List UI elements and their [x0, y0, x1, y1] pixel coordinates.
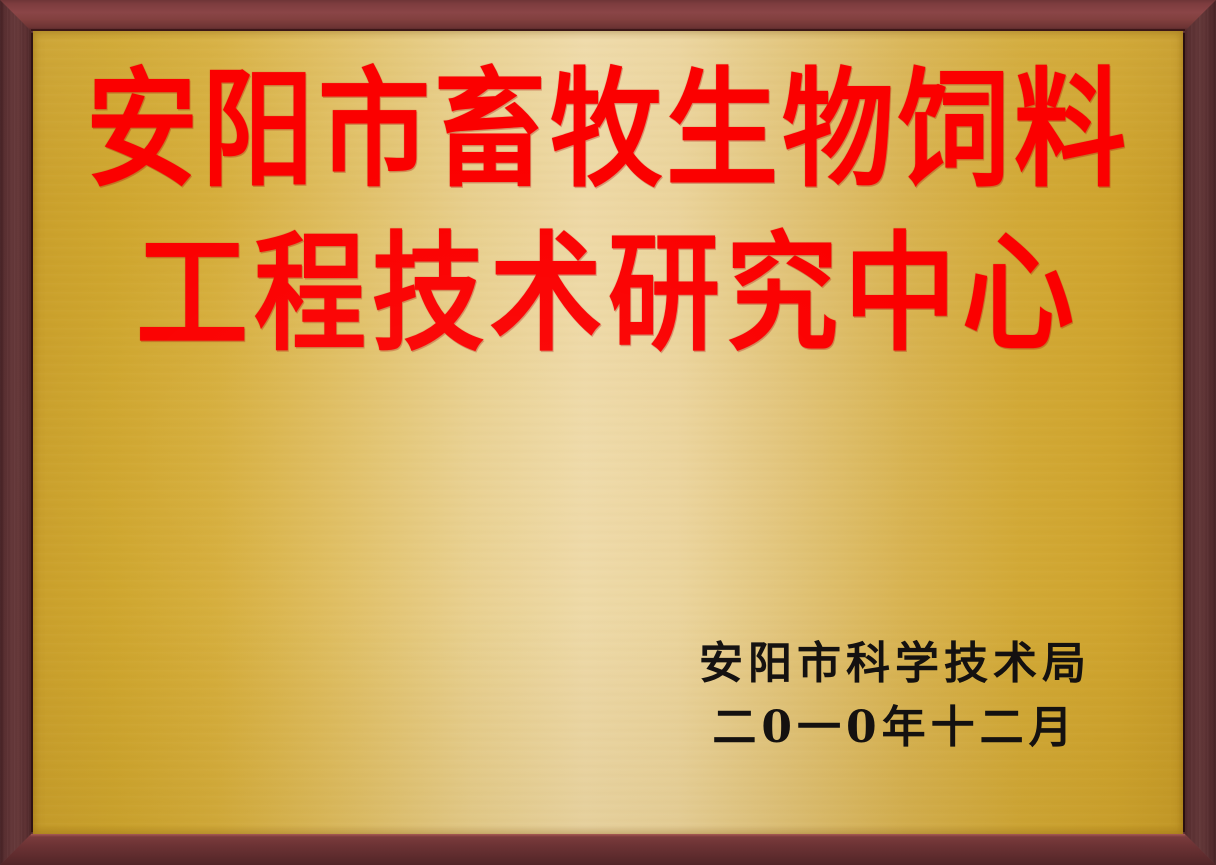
award-plaque: 安阳市畜牧生物饲料 工程技术研究中心 安阳市科学技术局 二0一0年十二月: [0, 0, 1216, 865]
plaque-signature: 安阳市科学技术局 二0一0年十二月: [699, 632, 1091, 760]
plaque-title: 安阳市畜牧生物饲料 工程技术研究中心: [33, 67, 1183, 343]
plaque-content: 安阳市畜牧生物饲料 工程技术研究中心 安阳市科学技术局 二0一0年十二月: [33, 31, 1183, 834]
frame-rail-left: [0, 0, 33, 865]
frame-rail-right: [1183, 0, 1216, 865]
issue-date: 二0一0年十二月: [699, 696, 1091, 760]
plaque-title-line-1: 安阳市畜牧生物饲料: [33, 67, 1183, 195]
frame-rail-top: [0, 0, 1216, 31]
issuing-authority: 安阳市科学技术局: [699, 632, 1091, 696]
frame-rail-bottom: [0, 834, 1216, 865]
plaque-title-line-2: 工程技术研究中心: [33, 231, 1183, 359]
